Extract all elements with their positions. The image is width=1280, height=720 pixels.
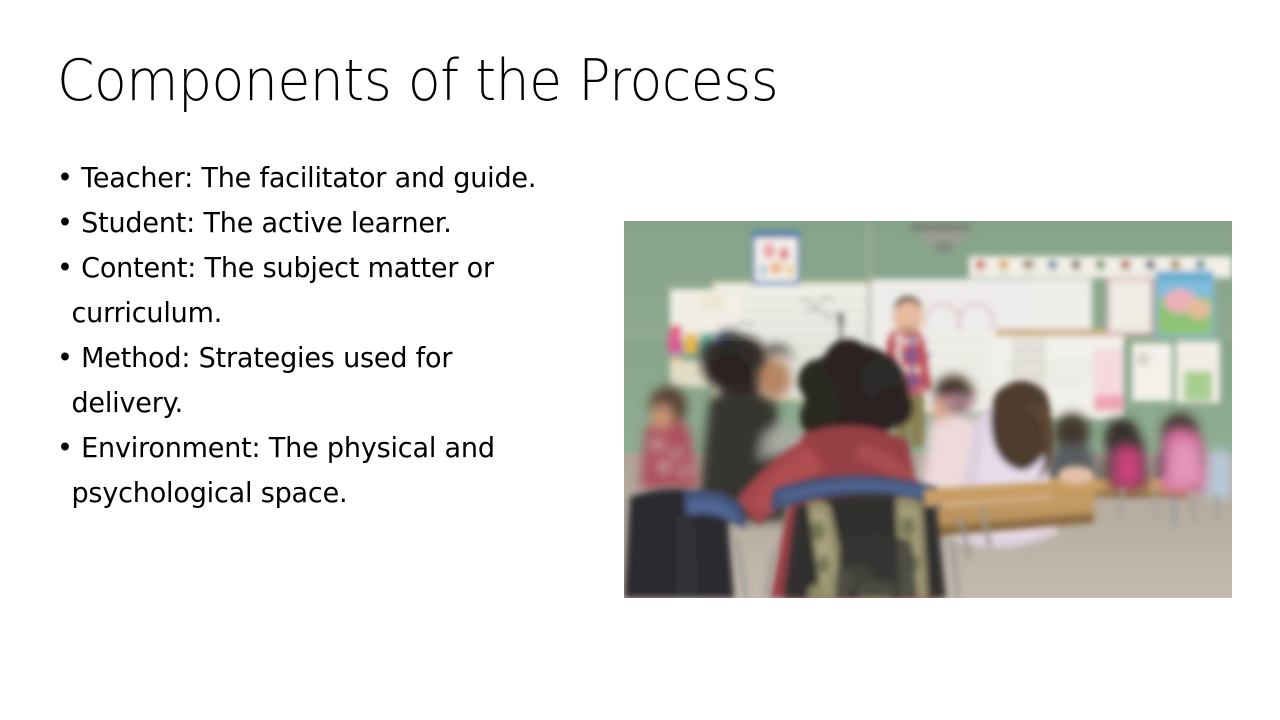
classroom-photo <box>624 221 1232 598</box>
slide: Components of the Process • Teacher: The… <box>0 0 1280 720</box>
list-item: • Method: Strategies used for delivery. <box>57 335 559 425</box>
list-item: • Student: The active learner. <box>57 200 559 245</box>
list-item: • Environment: The physical and psycholo… <box>57 425 559 515</box>
bullet-list: • Teacher: The facilitator and guide. • … <box>57 155 577 515</box>
list-item: • Content: The subject matter or curricu… <box>57 245 559 335</box>
list-item: • Teacher: The facilitator and guide. <box>57 155 559 200</box>
page-title: Components of the Process <box>57 50 997 114</box>
